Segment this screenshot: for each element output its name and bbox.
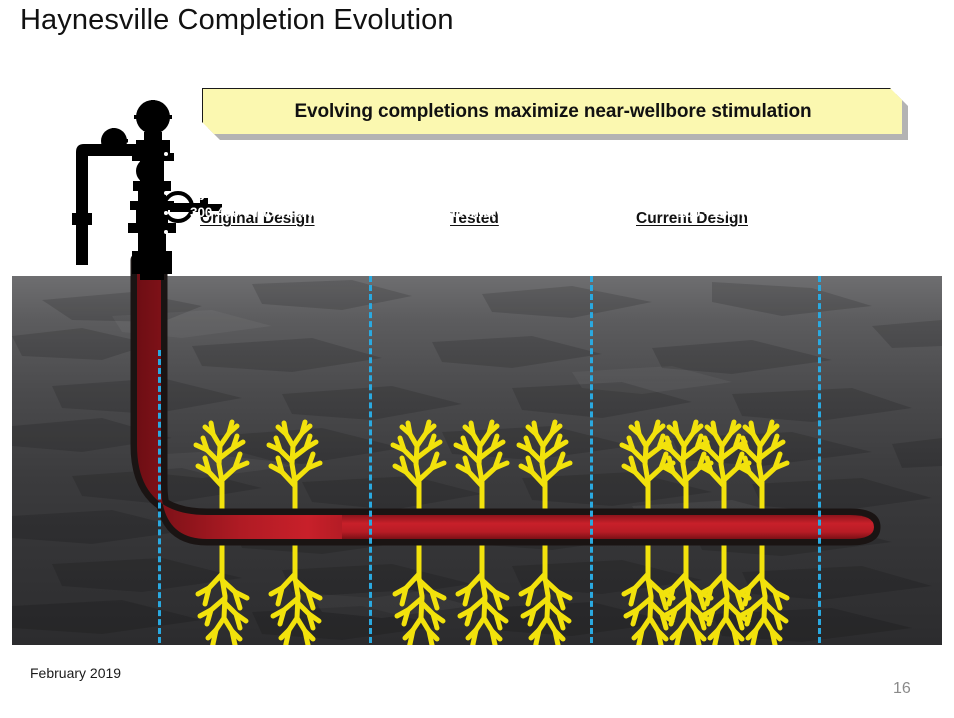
bullet-dot-icon — [164, 152, 168, 156]
list-item-label: 5,000+ lbs/ft Proppant — [398, 164, 538, 184]
column-divider-2 — [369, 276, 372, 643]
footer-page-number: 16 — [893, 680, 911, 698]
list-item-label: 10,000’ Laterals — [398, 144, 497, 164]
list-item-label: Hybrid Fluid — [190, 183, 268, 203]
bullet-dot-icon — [652, 172, 656, 176]
list-item-label: 300-450’ Frac Intervals — [190, 203, 333, 223]
list-item: Hybrid Fluid — [164, 183, 334, 203]
bullet-dot-icon — [164, 211, 168, 215]
bullet-dot-icon — [164, 230, 168, 234]
page-title: Haynesville Completion Evolution — [20, 4, 454, 37]
bullet-dot-icon — [652, 230, 656, 234]
list-item-label: Slick Water & Hybrid Fluid — [398, 183, 565, 203]
bullet-dot-icon — [382, 172, 386, 176]
bullet-dot-icon — [382, 152, 386, 156]
column-divider-1 — [158, 350, 161, 643]
list-item-label: 1,000 lbs/ft Proppant — [190, 164, 322, 184]
column-divider-3 — [590, 276, 593, 643]
list-item: 10,000’ Laterals — [382, 144, 565, 164]
list-item: <100’ Frac Intervals — [382, 203, 565, 223]
list-item: 300-450’ Frac Intervals — [164, 203, 334, 223]
slide-root: Haynesville Completion Evolution — [0, 0, 954, 718]
list-item-label: 4,600 - 10,000’ Laterals — [678, 144, 822, 164]
bullet-dot-icon — [382, 191, 386, 195]
list-item: Cluster Spacing 50-70’ — [164, 222, 334, 242]
wellbore-lateral-fill — [342, 515, 874, 539]
list-item: Cluster Spacing 20 - 50’ — [382, 222, 565, 242]
list-item: Slick Water & Hybrid Fluid — [382, 183, 565, 203]
list-item-label: 4,600‘ Laterals — [190, 144, 282, 164]
list-item-label: Cluster Spacing 50-70’ — [190, 222, 334, 242]
list-item: Slick Water Fluid — [652, 183, 858, 203]
bullet-dot-icon — [652, 152, 656, 156]
list-item-label: <100’ Frac Intervals — [398, 203, 522, 223]
bullet-list-current: 4,600 - 10,000’ Laterals 3,000 – 4,000 l… — [652, 144, 858, 242]
callout-text: Evolving completions maximize near-wellb… — [294, 101, 811, 123]
list-item-label: Cluster Spacing 20 - 50’ — [398, 222, 549, 242]
bullet-list-original: 4,600‘ Laterals 1,000 lbs/ft Proppant Hy… — [164, 144, 334, 242]
column-divider-4 — [818, 276, 821, 643]
bullet-dot-icon — [382, 211, 386, 215]
list-item: Cluster Spacing 20 - 30’ — [652, 222, 858, 242]
list-item: 4,600‘ Laterals — [164, 144, 334, 164]
callout-banner: Evolving completions maximize near-wellb… — [202, 88, 912, 140]
bullet-list-tested: 10,000’ Laterals 5,000+ lbs/ft Proppant … — [382, 144, 565, 242]
callout-body: Evolving completions maximize near-wellb… — [202, 88, 904, 136]
list-item-label: 100 - 150’ Frac Intervals — [678, 203, 828, 223]
bullet-dot-icon — [164, 172, 168, 176]
list-item: 3,000 – 4,000 lbs/ft Proppant — [652, 164, 858, 184]
bullet-dot-icon — [382, 230, 386, 234]
list-item-label: Slick Water Fluid — [678, 183, 785, 203]
list-item: 1,000 lbs/ft Proppant — [164, 164, 334, 184]
list-item-label: 3,000 – 4,000 lbs/ft Proppant — [678, 164, 858, 184]
footer-date: February 2019 — [30, 665, 121, 681]
bullet-dot-icon — [652, 191, 656, 195]
list-item: 5,000+ lbs/ft Proppant — [382, 164, 565, 184]
wellbore-outline — [137, 260, 874, 539]
bullet-dot-icon — [652, 211, 656, 215]
list-item-label: Cluster Spacing 20 - 30’ — [678, 222, 829, 242]
bullet-dot-icon — [164, 191, 168, 195]
list-item: 100 - 150’ Frac Intervals — [652, 203, 858, 223]
list-item: 4,600 - 10,000’ Laterals — [652, 144, 858, 164]
diagram-figure: Evolving completions maximize near-wellb… — [12, 60, 942, 645]
